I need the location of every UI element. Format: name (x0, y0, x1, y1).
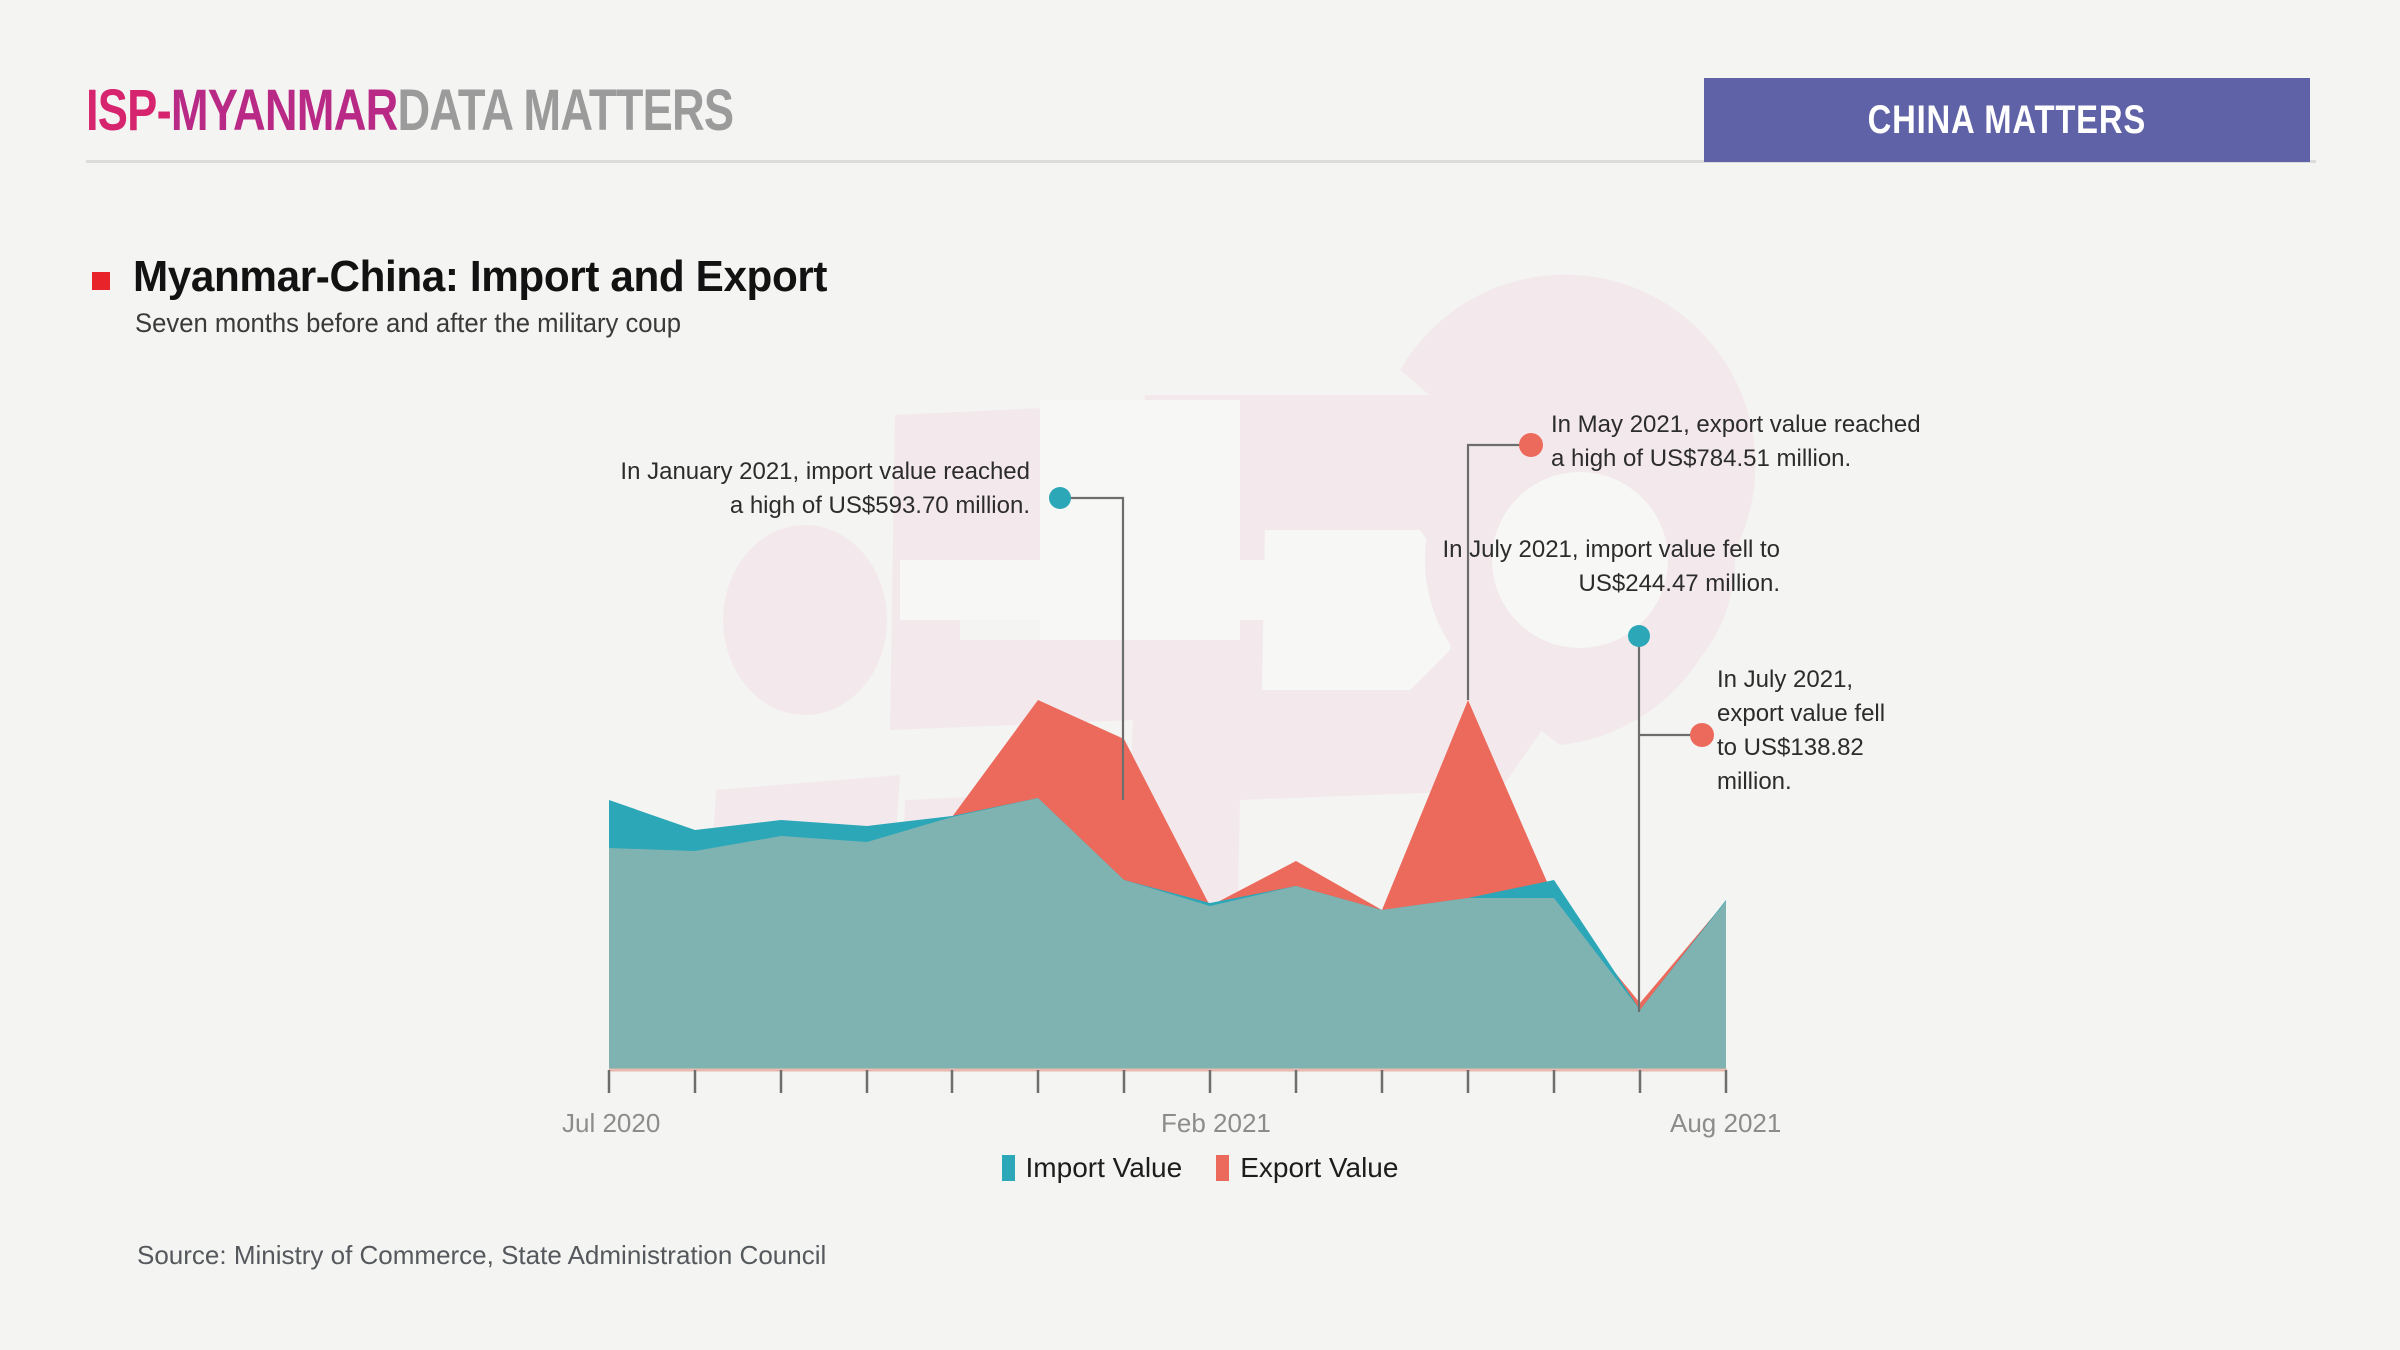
x-axis-label-start: Jul 2020 (562, 1108, 660, 1139)
annotation-jul-import-low: In July 2021, import value fell to US$24… (1430, 533, 1780, 601)
legend-label-import: Import Value (1026, 1152, 1183, 1184)
annotation-may-export-high: In May 2021, export value reached a high… (1551, 408, 1951, 476)
area-chart (0, 0, 2400, 1350)
chart-legend: Import Value Export Value (0, 1152, 2400, 1184)
source-note: Source: Ministry of Commerce, State Admi… (137, 1240, 826, 1271)
annotation-dot-jul-import (1628, 625, 1650, 647)
legend-swatch-export (1216, 1155, 1229, 1181)
x-axis-label-mid: Feb 2021 (1161, 1108, 1271, 1139)
annotation-jan-import-high: In January 2021, import value reached a … (620, 455, 1030, 523)
legend-label-export: Export Value (1240, 1152, 1398, 1184)
legend-item-export[interactable]: Export Value (1216, 1152, 1398, 1184)
legend-swatch-import (1002, 1155, 1015, 1181)
x-axis-label-end: Aug 2021 (1670, 1108, 1781, 1139)
infographic-page: ISP-MYANMARDATA MATTERS CHINA MATTERS My… (0, 0, 2400, 1350)
annotation-jul-export-low: In July 2021, export value fell to US$13… (1717, 663, 1892, 799)
annotation-dot-may-export (1519, 433, 1543, 457)
annotation-dot-jan-import (1049, 487, 1071, 509)
annotation-dot-jul-export (1690, 723, 1714, 747)
legend-item-import[interactable]: Import Value (1002, 1152, 1183, 1184)
x-axis-ticks (609, 1070, 1726, 1093)
